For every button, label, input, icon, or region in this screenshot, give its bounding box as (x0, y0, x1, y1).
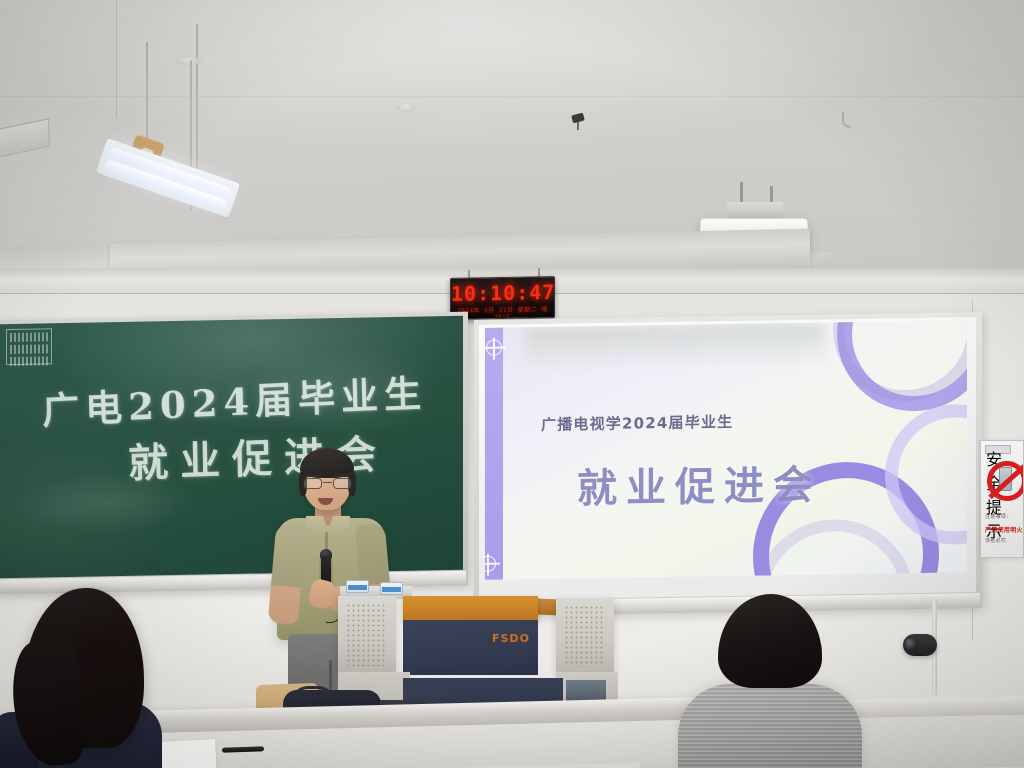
projector-mount (727, 202, 783, 220)
glasses-icon (304, 478, 351, 490)
blackboard-frame: 广电2024届毕业生 就业促进会 (0, 312, 468, 595)
presenter-eyebrow (334, 474, 349, 477)
rod-ceiling-plate (175, 58, 201, 65)
lectern-wood-top (403, 596, 538, 622)
slide-heading: 就业促进会 (577, 453, 822, 515)
clock-time-display: 10:10:47 (451, 280, 554, 306)
ceiling-seam (116, 0, 117, 118)
podium-speaker-right (556, 598, 614, 674)
speaker-grille (346, 603, 386, 667)
projected-slide: 广播电视学2024届毕业生 就业促进会 (485, 320, 967, 580)
podium-speaker-left (338, 596, 396, 674)
classroom-scene: 10:10:47 2024年 5月 21日 星期二 晴 25°C 广电2024届… (0, 0, 1024, 768)
sign-line-1: 注意事项： (985, 513, 1012, 520)
green-chalkboard: 广电2024届毕业生 就业促进会 (0, 316, 463, 579)
chalkboard-corner-note (6, 328, 52, 365)
sign-line-2: 严禁使用明火 (985, 525, 1023, 534)
slide-subtitle: 广播电视学2024届毕业生 (541, 411, 733, 435)
lectern-brand-logo: FSDO (492, 632, 530, 645)
student-right-body (678, 684, 862, 768)
smoke-detector-icon (396, 104, 416, 112)
whiteboard-surface: 广播电视学2024届毕业生 就业促进会 (479, 317, 976, 600)
speaker-grille (564, 605, 604, 667)
lamp-suspension-rod (196, 24, 198, 184)
presenter-eyebrow (306, 474, 321, 477)
ceiling-hook-icon (842, 112, 851, 128)
glasses-lens (333, 478, 351, 489)
sign-line-3: 违者必究 (985, 537, 1006, 544)
podium-item (380, 582, 403, 595)
glasses-lens (304, 478, 322, 489)
podium-item (346, 580, 369, 593)
ceiling-camera-icon (570, 114, 586, 127)
whiteboard-frame: 广播电视学2024届毕业生 就业促进会 (474, 312, 982, 616)
no-phone-wall-sign: 安全提示 注意事项： 严禁使用明火 违者必究 (980, 440, 1024, 558)
slide-blurred-photo-band (525, 322, 825, 369)
sign-header-badge: 安全提示 (985, 445, 1011, 454)
lectern-front-panel (403, 620, 538, 675)
slide-left-accent-bar (485, 328, 503, 580)
ceiling-seam (0, 96, 1024, 97)
glasses-bridge (323, 482, 332, 483)
wall-camera-icon (903, 634, 937, 656)
